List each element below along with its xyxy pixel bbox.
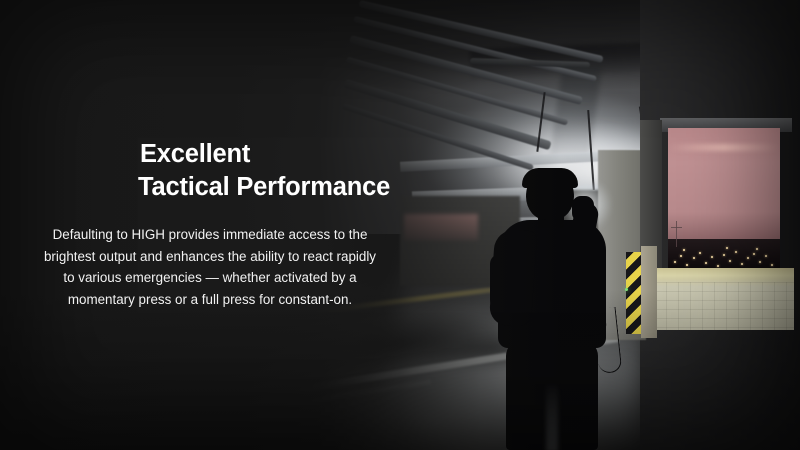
headline-line-1: Excellent xyxy=(140,140,250,168)
body-paragraph: Defaulting to HIGH provides immediate ac… xyxy=(36,224,384,310)
page-title: ExcellentTactical Performance xyxy=(140,138,384,204)
bottom-shade-overlay xyxy=(0,290,800,450)
headline-line-2: Tactical Performance xyxy=(138,171,384,204)
promo-banner: ExcellentTactical Performance Defaulting… xyxy=(0,0,800,450)
copy-block: ExcellentTactical Performance Defaulting… xyxy=(36,138,384,310)
